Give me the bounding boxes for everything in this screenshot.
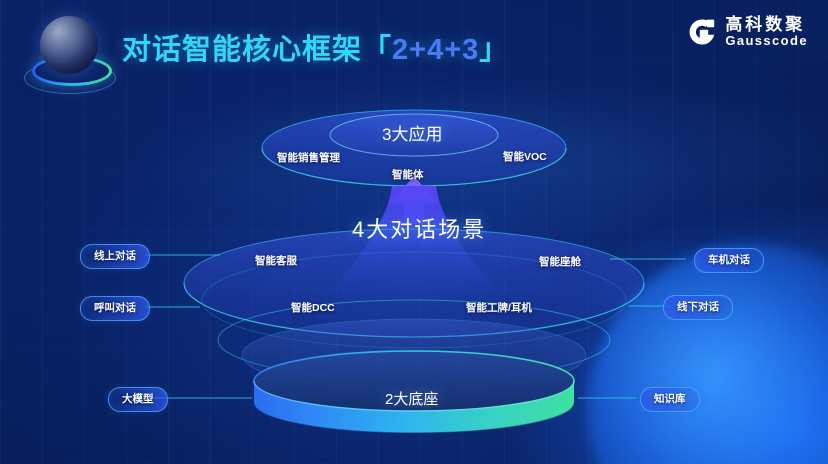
scene-item-cockpit: 智能座舱 xyxy=(539,254,581,269)
app-item-sales-management: 智能销售管理 xyxy=(277,150,340,165)
side-label-call-dialogue[interactable]: 呼叫对话 xyxy=(80,296,150,321)
app-item-voc: 智能VOC xyxy=(503,149,547,164)
slide-canvas: 对话智能核心框架「2+4+3」 高科数聚 Gausscode xyxy=(0,0,828,464)
scene-item-badge-headset: 智能工牌/耳机 xyxy=(466,300,532,315)
side-label-invehicle-dialogue[interactable]: 车机对话 xyxy=(694,248,764,273)
scene-item-customer-service: 智能客服 xyxy=(255,253,297,268)
side-label-online-dialogue[interactable]: 线上对话 xyxy=(80,244,150,269)
side-label-knowledge-base[interactable]: 知识库 xyxy=(640,387,700,412)
side-label-offline-dialogue[interactable]: 线下对话 xyxy=(663,295,733,320)
tier-title-foundation: 2大底座 xyxy=(385,388,438,409)
app-item-agent: 智能体 xyxy=(392,167,424,182)
side-label-large-model[interactable]: 大模型 xyxy=(108,387,168,412)
tier-title-applications: 3大应用 xyxy=(382,120,442,145)
scene-item-dcc: 智能DCC xyxy=(291,300,335,315)
tier-title-scenarios: 4大对话场景 xyxy=(352,212,486,244)
